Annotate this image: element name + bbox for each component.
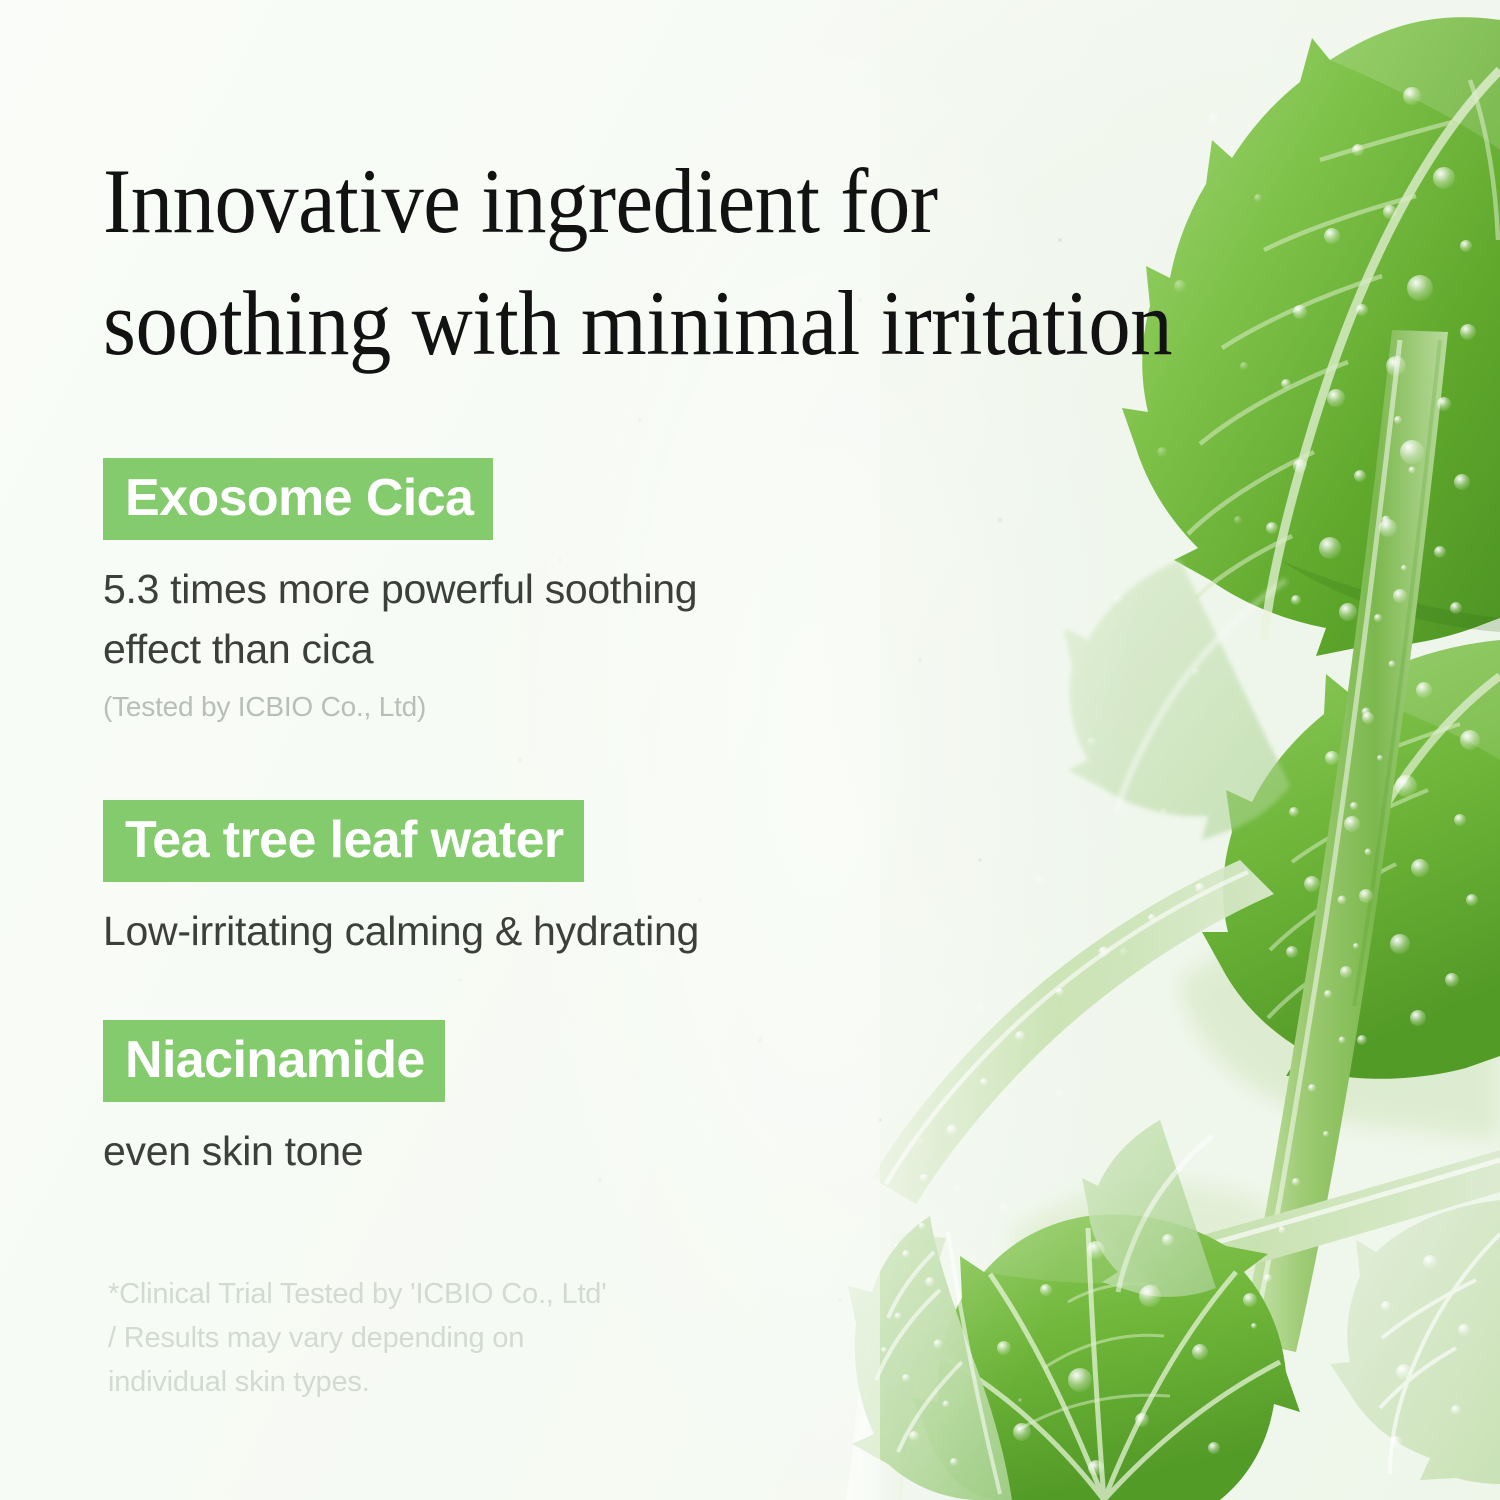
page-title: Innovative ingredient for soothing with … [103,140,1299,385]
badge-niacinamide: Niacinamide [103,1020,445,1102]
badge-tea-tree-leaf-water: Tea tree leaf water [103,800,584,882]
subnote-exosome-cica: (Tested by ICBIO Co., Ltd) [103,687,697,726]
description-niacinamide: even skin tone [103,1122,445,1181]
description-tea-tree-leaf-water: Low-irritating calming & hydrating [103,902,699,961]
ingredient-block-tea-tree-leaf-water: Tea tree leaf water Low-irritating calmi… [103,800,699,962]
product-infographic: Innovative ingredient for soothing with … [0,0,1500,1500]
ingredient-block-exosome-cica: Exosome Cica 5.3 times more powerful soo… [103,458,697,726]
ingredient-block-niacinamide: Niacinamide even skin tone [103,1020,445,1182]
disclaimer-footnote: *Clinical Trial Tested by 'ICBIO Co., Lt… [108,1272,607,1404]
content-layer: Innovative ingredient for soothing with … [0,0,1500,1500]
badge-exosome-cica: Exosome Cica [103,458,493,540]
description-exosome-cica: 5.3 times more powerful soothing effect … [103,560,697,679]
